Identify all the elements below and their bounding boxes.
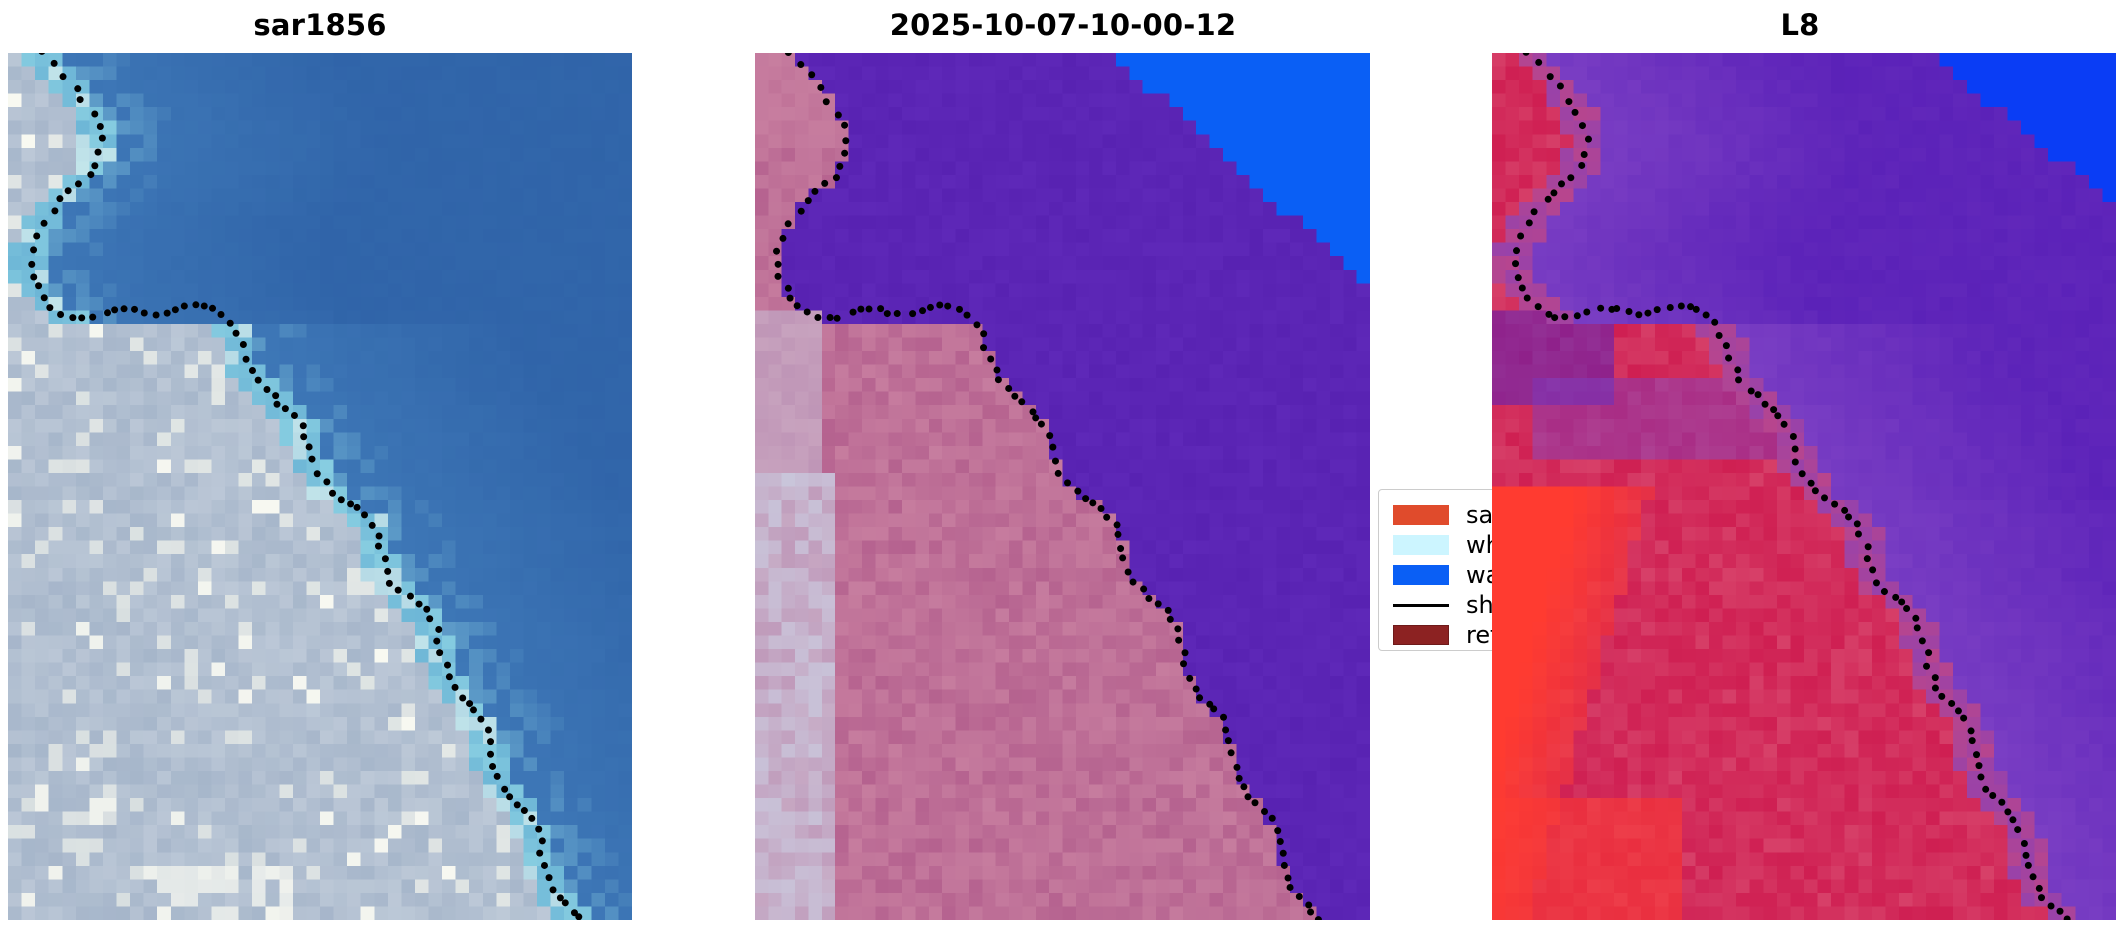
image-panel-sar1856[interactable] — [8, 53, 632, 920]
shoreline-line-swatch — [1393, 595, 1449, 615]
panel-title-timestamp: 2025-10-07-10-00-12 — [663, 8, 1463, 42]
sar1856-raster — [8, 53, 632, 920]
panel-title-l8: L8 — [1400, 8, 2122, 42]
image-panel-l8[interactable] — [1492, 53, 2116, 920]
water-color-swatch — [1393, 565, 1449, 585]
sand-color-swatch — [1393, 505, 1449, 525]
image-panel-classified[interactable] — [755, 53, 1370, 920]
classified-raster — [755, 53, 1370, 920]
figure-canvas: sar1856 2025-10-07-10-00-12 sand whitewa… — [0, 0, 2122, 935]
l8-raster — [1492, 53, 2116, 920]
whitewater-color-swatch — [1393, 535, 1449, 555]
reference-color-swatch — [1393, 625, 1449, 645]
panel-title-sar1856: sar1856 — [0, 8, 720, 42]
